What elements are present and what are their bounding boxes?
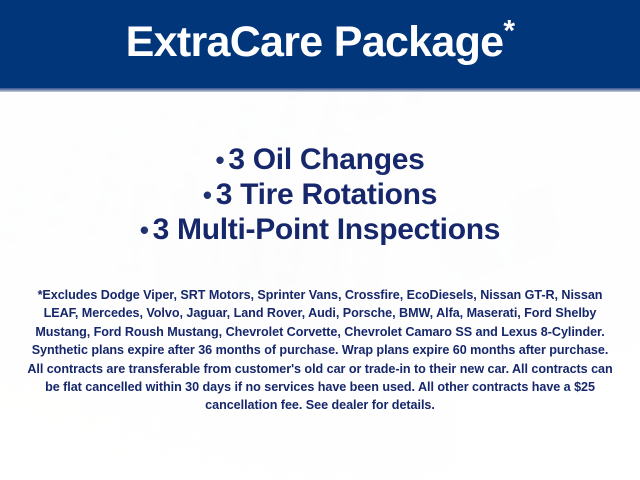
benefit-label: 3 Oil Changes — [228, 143, 424, 176]
benefit-item-multi-point-inspections: •3 Multi-Point Inspections — [0, 212, 640, 247]
benefit-label: 3 Multi-Point Inspections — [153, 213, 501, 246]
benefits-list: •3 Oil Changes •3 Tire Rotations •3 Mult… — [0, 142, 640, 247]
page-title: ExtraCare Package* — [116, 21, 525, 67]
disclaimer-fine-print: *Excludes Dodge Viper, SRT Motors, Sprin… — [26, 286, 614, 415]
benefit-item-oil-changes: •3 Oil Changes — [0, 142, 640, 177]
benefit-item-tire-rotations: •3 Tire Rotations — [0, 177, 640, 212]
header-divider-rule — [0, 88, 640, 92]
bullet-icon: • — [216, 145, 229, 175]
benefit-label: 3 Tire Rotations — [216, 178, 437, 211]
extracare-package-promo-card: ExtraCare Package* •3 Oil Changes •3 Tir… — [0, 0, 640, 480]
page-title-asterisk: * — [503, 15, 514, 48]
bullet-icon: • — [140, 215, 153, 245]
page-title-text: ExtraCare Package — [126, 18, 504, 66]
bullet-icon: • — [203, 180, 216, 210]
header-banner: ExtraCare Package* — [0, 0, 640, 88]
